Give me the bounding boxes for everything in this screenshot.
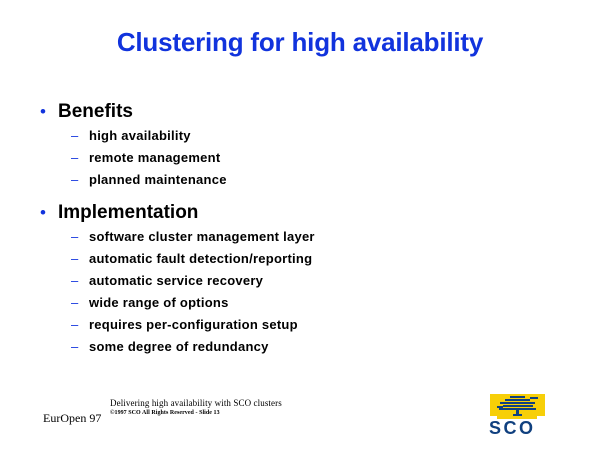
sub-bullet-list-benefits: – high availability – remote management … (40, 125, 480, 191)
dash-icon: – (71, 336, 89, 358)
footer-text-block: Delivering high availability with SCO cl… (110, 398, 282, 416)
list-item: – automatic service recovery (40, 270, 480, 292)
dash-icon: – (71, 248, 89, 270)
footer-tagline: Delivering high availability with SCO cl… (110, 398, 282, 408)
list-item: – automatic fault detection/reporting (40, 248, 480, 270)
section-heading-label: Implementation (58, 201, 198, 224)
sub-bullet-list-implementation: – software cluster management layer – au… (40, 226, 480, 358)
section-heading-implementation: • Implementation (40, 201, 480, 224)
dash-icon: – (71, 226, 89, 248)
list-item: – high availability (40, 125, 480, 147)
list-item: – software cluster management layer (40, 226, 480, 248)
section-heading-benefits: • Benefits (40, 100, 480, 123)
list-item-label: remote management (89, 147, 220, 169)
list-item-label: software cluster management layer (89, 226, 315, 248)
slide-footer: EurOpen 97 Delivering high availability … (43, 398, 563, 434)
dash-icon: – (71, 125, 89, 147)
bullet-dot-icon: • (40, 103, 58, 120)
dash-icon: – (71, 147, 89, 169)
sco-tree-icon (490, 394, 545, 416)
list-item: – planned maintenance (40, 169, 480, 191)
dash-icon: – (71, 314, 89, 336)
dash-icon: – (71, 270, 89, 292)
section-spacer (40, 191, 480, 201)
footer-organization: EurOpen 97 (43, 411, 101, 426)
list-item: – requires per-configuration setup (40, 314, 480, 336)
slide-canvas: Clustering for high availability • Benef… (0, 0, 600, 450)
list-item: – remote management (40, 147, 480, 169)
sco-tree-glyph (490, 394, 545, 416)
list-item-label: planned maintenance (89, 169, 227, 191)
list-item-label: automatic fault detection/reporting (89, 248, 312, 270)
list-item-label: high availability (89, 125, 191, 147)
dash-icon: – (71, 169, 89, 191)
list-item-label: requires per-configuration setup (89, 314, 298, 336)
sco-wordmark: SCO (489, 419, 547, 437)
list-item: – wide range of options (40, 292, 480, 314)
slide-body: • Benefits – high availability – remote … (40, 100, 480, 358)
footer-copyright: ©1997 SCO All Rights Reserved - Slide 13 (110, 410, 282, 416)
list-item-label: some degree of redundancy (89, 336, 269, 358)
section-heading-label: Benefits (58, 100, 133, 123)
list-item: – some degree of redundancy (40, 336, 480, 358)
dash-icon: – (71, 292, 89, 314)
page-title: Clustering for high availability (0, 27, 600, 58)
list-item-label: wide range of options (89, 292, 229, 314)
list-item-label: automatic service recovery (89, 270, 263, 292)
bullet-dot-icon: • (40, 204, 58, 221)
sco-logo: SCO (489, 394, 551, 438)
